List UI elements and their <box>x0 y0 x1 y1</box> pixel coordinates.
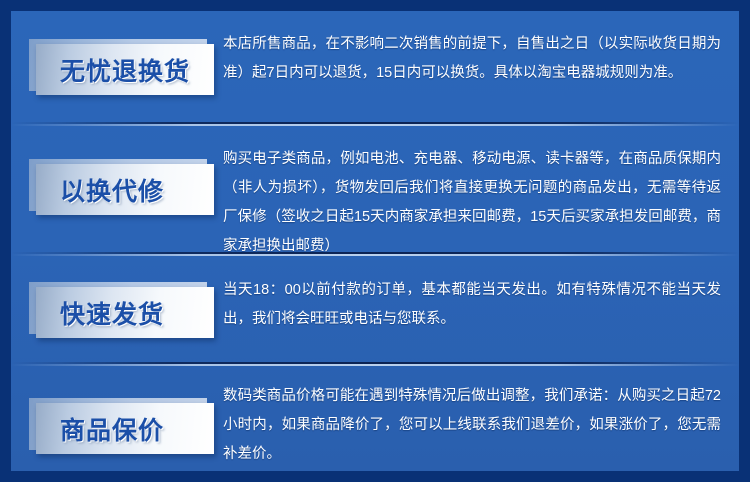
badge-price-guarantee: 商品保价 <box>29 398 214 454</box>
divider-light-line <box>11 364 739 366</box>
section-divider <box>11 122 739 126</box>
divider-light-line <box>11 124 739 126</box>
policy-section-shipping: 快速发货 当天18：00以前付款的订单，基本都能当天发出。如有特殊情况不能当天发… <box>11 257 739 362</box>
policy-body-exchange: 购买电子类商品，例如电池、充电器、移动电源、读卡器等，在商品质保期内（非人为损坏… <box>223 145 721 261</box>
policy-section-exchange: 以换代修 购买电子类商品，例如电池、充电器、移动电源、读卡器等，在商品质保期内（… <box>11 127 739 253</box>
policy-body-price-guarantee: 数码类商品价格可能在遇到特殊情况后做出调整，我们承诺：从购买之日起72小时内，如… <box>223 382 721 469</box>
badge-label: 快速发货 <box>60 295 164 331</box>
policy-section-return: 无忧退换货 本店所售商品，在不影响二次销售的前提下，自售出之日（以实际收货日期为… <box>11 11 739 123</box>
badge-shipping: 快速发货 <box>29 282 214 338</box>
badge-front-layer: 快速发货 <box>36 287 214 338</box>
section-divider <box>11 362 739 366</box>
policy-body-shipping: 当天18：00以前付款的订单，基本都能当天发出。如有特殊情况不能当天发出，我们将… <box>223 276 721 334</box>
badge-label: 以换代修 <box>60 172 164 208</box>
policy-panel: 无忧退换货 本店所售商品，在不影响二次销售的前提下，自售出之日（以实际收货日期为… <box>11 11 739 471</box>
badge-front-layer: 无忧退换货 <box>36 44 214 95</box>
badge-return: 无忧退换货 <box>29 39 214 95</box>
policy-section-price-guarantee: 商品保价 数码类商品价格可能在遇到特殊情况后做出调整，我们承诺：从购买之日起72… <box>11 367 739 471</box>
section-divider <box>11 252 739 256</box>
policy-body-return: 本店所售商品，在不影响二次销售的前提下，自售出之日（以实际收货日期为准）起7日内… <box>223 30 721 88</box>
badge-label: 无忧退换货 <box>60 52 190 88</box>
badge-front-layer: 以换代修 <box>36 164 214 215</box>
badge-front-layer: 商品保价 <box>36 403 214 454</box>
badge-exchange: 以换代修 <box>29 159 214 215</box>
divider-light-line <box>11 254 739 256</box>
badge-label: 商品保价 <box>60 411 164 447</box>
service-policy-banner: 无忧退换货 本店所售商品，在不影响二次销售的前提下，自售出之日（以实际收货日期为… <box>0 0 750 482</box>
